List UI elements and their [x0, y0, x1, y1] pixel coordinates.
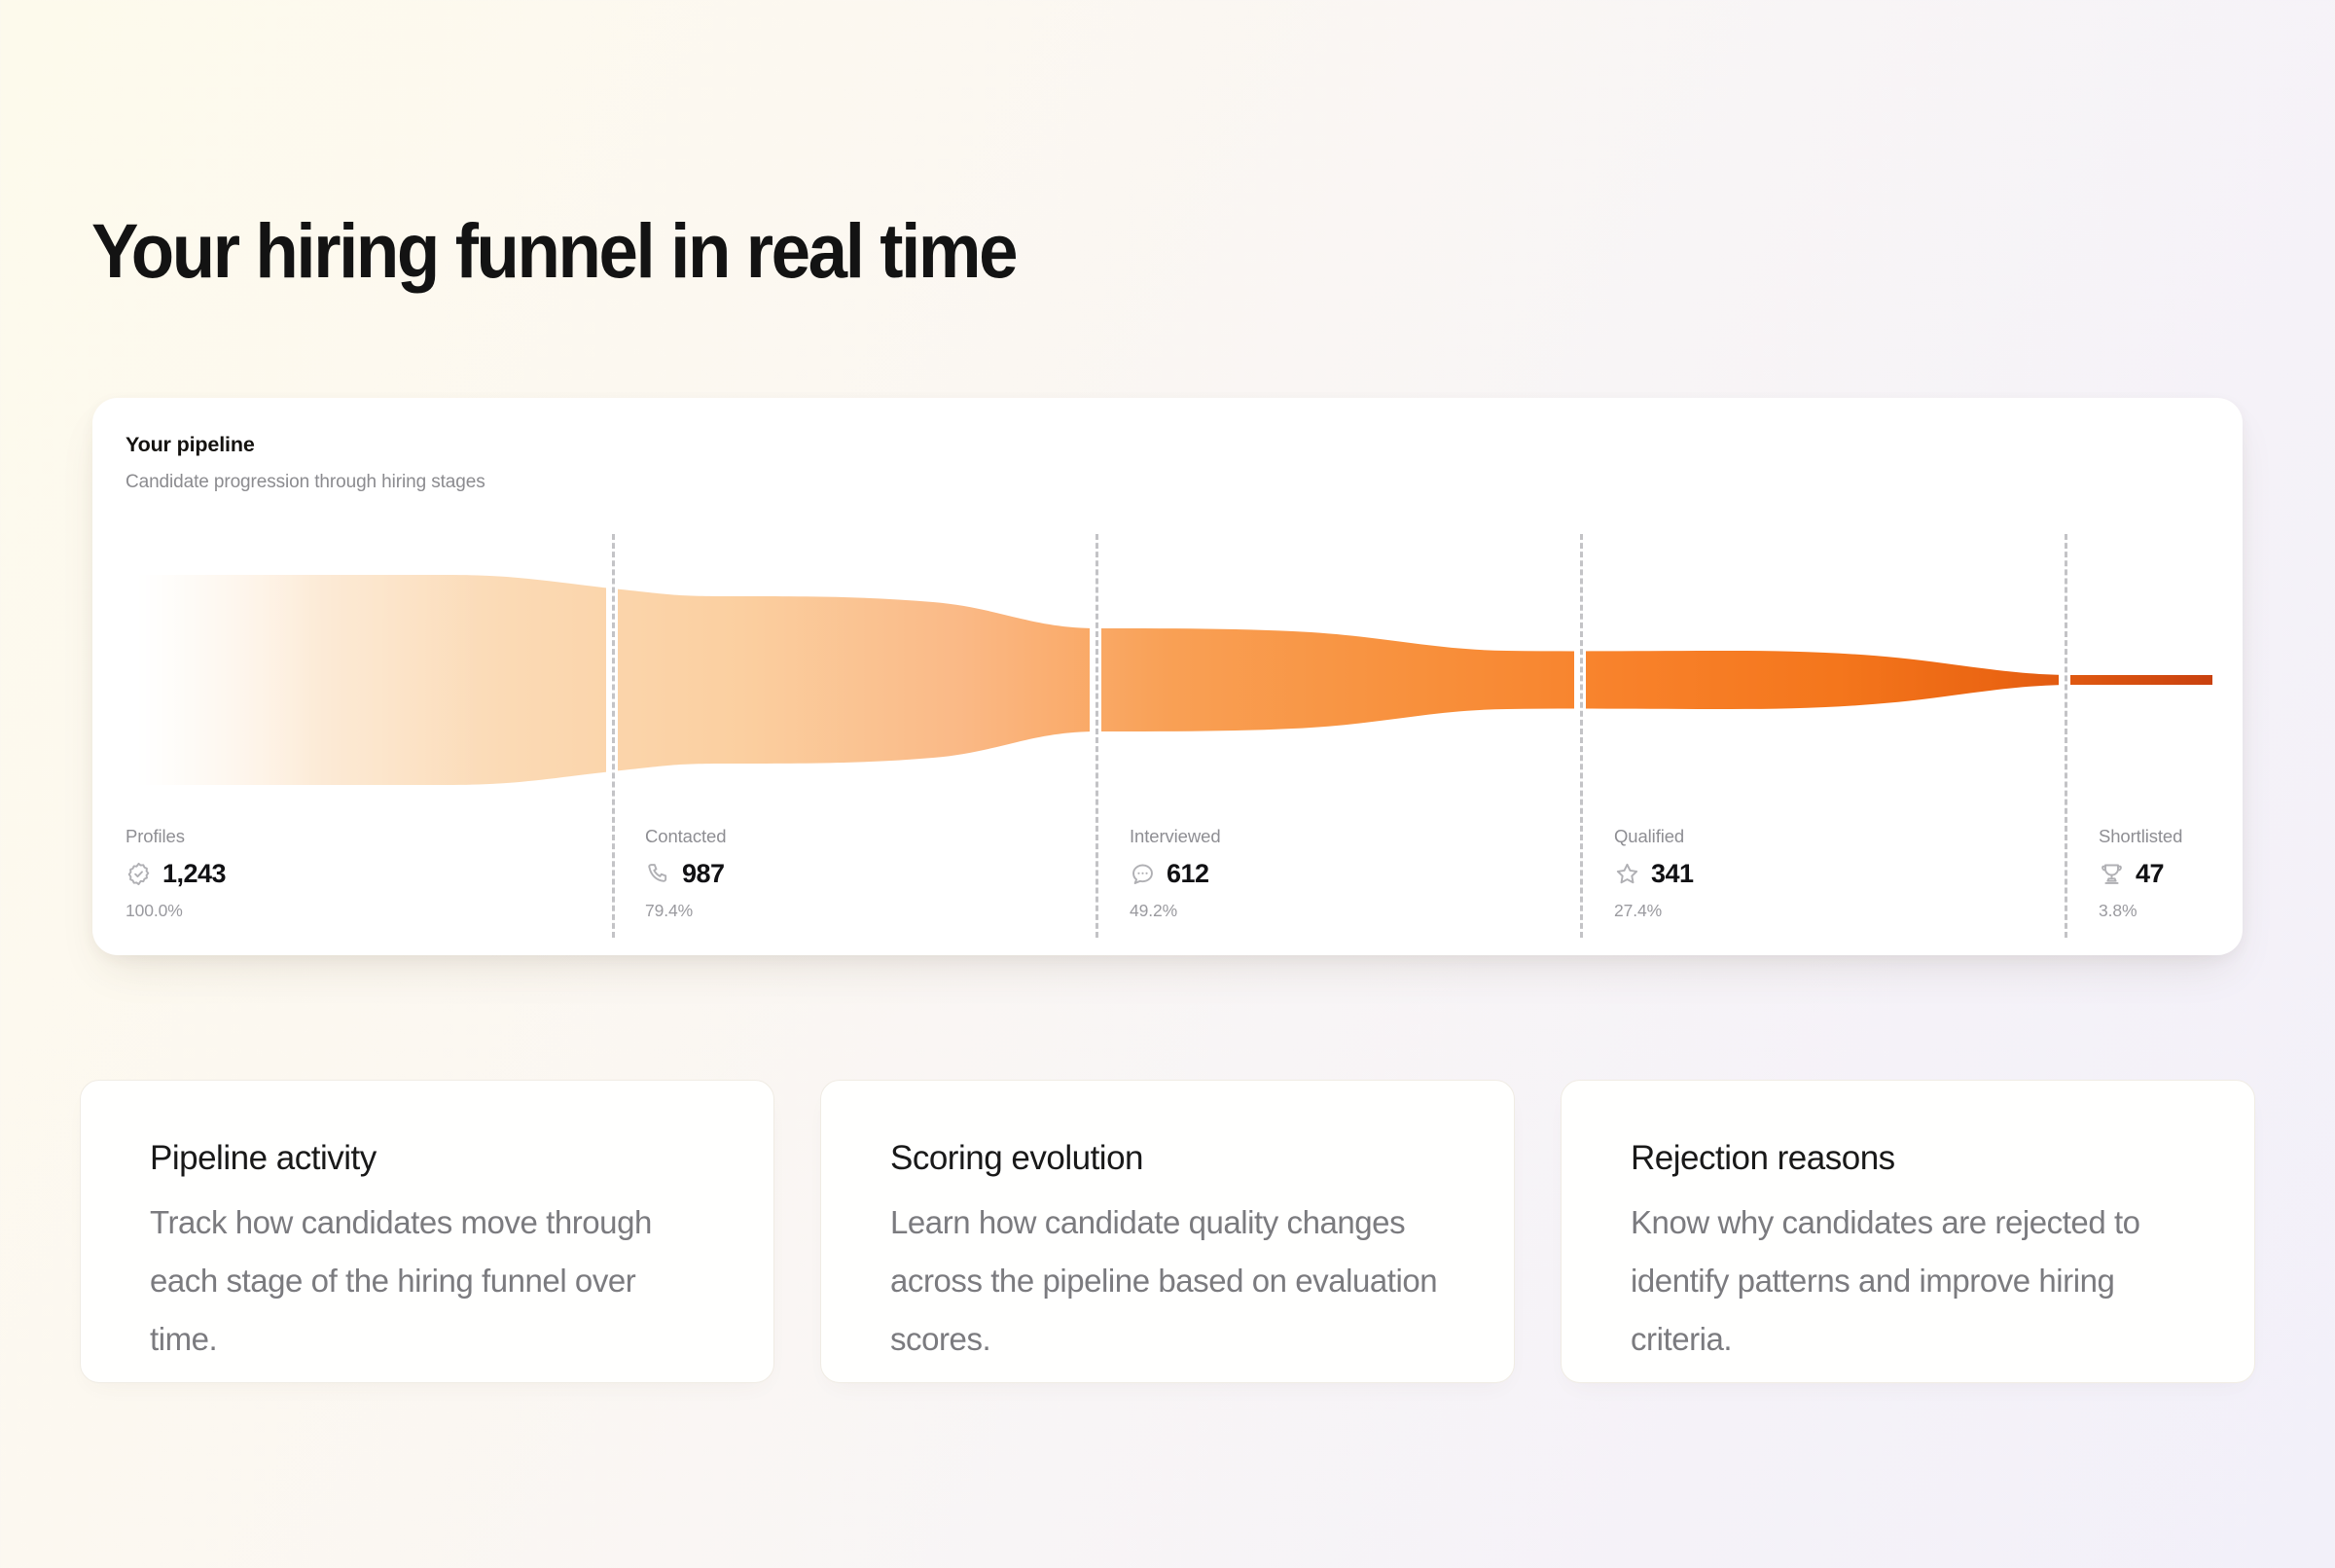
page-root: Your hiring funnel in real time Your pip…	[0, 0, 2335, 1568]
star-icon	[1614, 861, 1640, 887]
stage-profiles[interactable]: Profiles 1,243 100.0%	[126, 826, 388, 921]
pipeline-card: Your pipeline Candidate progression thro…	[92, 398, 2243, 955]
stage-label: Interviewed	[1130, 826, 1392, 847]
feature-card-rejection-reasons[interactable]: Rejection reasons Know why candidates ar…	[1561, 1080, 2255, 1383]
trophy-icon	[2099, 861, 2125, 887]
pipeline-card-title: Your pipeline	[126, 433, 255, 457]
stage-value: 612	[1167, 861, 1209, 887]
stage-label: Shortlisted	[2099, 826, 2335, 847]
stage-label: Profiles	[126, 826, 388, 847]
stage-label: Qualified	[1614, 826, 1877, 847]
stage-percentage: 100.0%	[126, 901, 388, 921]
stage-value: 1,243	[162, 861, 226, 887]
stage-percentage: 49.2%	[1130, 901, 1392, 921]
stage-value: 987	[682, 861, 725, 887]
pipeline-card-subtitle: Candidate progression through hiring sta…	[126, 472, 485, 493]
message-dots-icon	[1130, 861, 1156, 887]
feature-description: Know why candidates are rejected to iden…	[1631, 1194, 2187, 1369]
stage-label: Contacted	[645, 826, 908, 847]
page-title: Your hiring funnel in real time	[91, 212, 1016, 289]
feature-description: Learn how candidate quality changes acro…	[890, 1194, 1447, 1369]
badge-check-icon	[126, 861, 152, 887]
stage-shortlisted[interactable]: Shortlisted 47 3.8%	[2099, 826, 2335, 921]
feature-title: Pipeline activity	[150, 1139, 377, 1178]
stage-contacted[interactable]: Contacted 987 79.4%	[645, 826, 908, 921]
feature-title: Rejection reasons	[1631, 1139, 1895, 1178]
stage-value: 341	[1651, 861, 1694, 887]
stage-summary-row: Profiles 1,243 100.0% Contacted	[92, 826, 2243, 947]
stage-qualified[interactable]: Qualified 341 27.4%	[1614, 826, 1877, 921]
stage-interviewed[interactable]: Interviewed 612 49.2%	[1130, 826, 1392, 921]
phone-icon	[645, 861, 671, 887]
stage-value: 47	[2136, 861, 2164, 887]
feature-card-pipeline-activity[interactable]: Pipeline activity Track how candidates m…	[80, 1080, 774, 1383]
feature-card-scoring-evolution[interactable]: Scoring evolution Learn how candidate qu…	[820, 1080, 1515, 1383]
feature-description: Track how candidates move through each s…	[150, 1194, 706, 1369]
feature-card-row: Pipeline activity Track how candidates m…	[80, 1080, 2255, 1383]
stage-percentage: 3.8%	[2099, 901, 2335, 921]
stage-percentage: 27.4%	[1614, 901, 1877, 921]
feature-title: Scoring evolution	[890, 1139, 1143, 1178]
funnel-chart	[126, 534, 2212, 826]
stage-percentage: 79.4%	[645, 901, 908, 921]
